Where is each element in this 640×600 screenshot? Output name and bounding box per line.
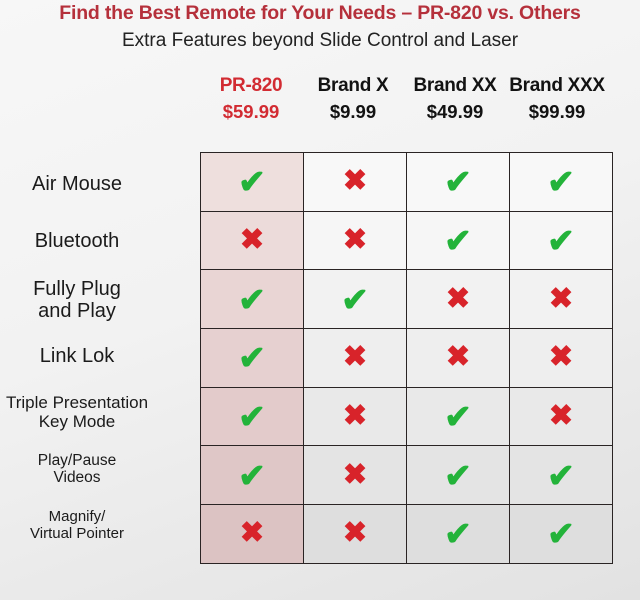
check-icon: ✔ xyxy=(547,459,575,492)
cross-icon: ✖ xyxy=(343,167,367,196)
cell-1-3: ✔ xyxy=(510,211,613,270)
check-icon: ✔ xyxy=(444,400,472,433)
cell-3-2: ✖ xyxy=(407,329,510,388)
feature-label-3: Link Lok xyxy=(0,345,192,367)
cross-icon: ✖ xyxy=(343,343,367,372)
feature-label-1: Bluetooth xyxy=(0,230,192,252)
table-row: ✔ ✖ ✔ ✖ xyxy=(201,387,613,446)
table-row: ✖ ✖ ✔ ✔ xyxy=(201,211,613,270)
column-price-3: $99.99 xyxy=(506,98,608,125)
column-header-2: Brand XX $49.99 xyxy=(404,74,506,125)
column-price-1: $9.99 xyxy=(302,98,404,125)
check-icon: ✔ xyxy=(547,517,575,550)
column-brand-0: PR-820 xyxy=(200,74,302,98)
feature-label-5-line1: Play/Pause xyxy=(0,452,192,469)
check-icon: ✔ xyxy=(238,283,266,316)
table-row: ✔ ✖ ✔ ✔ xyxy=(201,153,613,212)
column-brand-2: Brand XX xyxy=(404,74,506,98)
check-icon: ✔ xyxy=(444,165,472,198)
column-brand-3: Brand XXX xyxy=(506,74,608,98)
cross-icon: ✖ xyxy=(446,285,470,314)
cell-6-3: ✔ xyxy=(510,505,613,564)
table-row: ✔ ✔ ✖ ✖ xyxy=(201,270,613,329)
cross-icon: ✖ xyxy=(446,343,470,372)
cell-4-2: ✔ xyxy=(407,387,510,446)
cell-0-3: ✔ xyxy=(510,153,613,212)
check-icon: ✔ xyxy=(238,400,266,433)
cell-2-2: ✖ xyxy=(407,270,510,329)
cell-5-3: ✔ xyxy=(510,446,613,505)
cell-6-1: ✖ xyxy=(304,505,407,564)
feature-label-1-line1: Bluetooth xyxy=(35,230,120,252)
table-row: ✔ ✖ ✔ ✔ xyxy=(201,446,613,505)
column-header-1: Brand X $9.99 xyxy=(302,74,404,125)
table-row: ✔ ✖ ✖ ✖ xyxy=(201,329,613,388)
cell-4-1: ✖ xyxy=(304,387,407,446)
feature-label-2-line1: Fully Plug xyxy=(0,278,192,300)
cell-0-0: ✔ xyxy=(201,153,304,212)
feature-label-5: Play/Pause Videos xyxy=(0,452,192,487)
check-icon: ✔ xyxy=(341,283,369,316)
cell-2-3: ✖ xyxy=(510,270,613,329)
check-icon: ✔ xyxy=(547,165,575,198)
comparison-table-body: ✔ ✖ ✔ ✔ ✖ ✖ ✔ ✔ ✔ ✔ ✖ ✖ ✔ ✖ ✖ ✖ xyxy=(201,153,613,564)
cell-5-1: ✖ xyxy=(304,446,407,505)
cross-icon: ✖ xyxy=(343,226,367,255)
cell-4-0: ✔ xyxy=(201,387,304,446)
column-price-2: $49.99 xyxy=(404,98,506,125)
feature-label-6: Magnify/ Virtual Pointer xyxy=(0,509,192,543)
cross-icon: ✖ xyxy=(549,285,573,314)
check-icon: ✔ xyxy=(444,224,472,257)
page-title: Find the Best Remote for Your Needs – PR… xyxy=(0,0,640,26)
check-icon: ✔ xyxy=(238,459,266,492)
cell-4-3: ✖ xyxy=(510,387,613,446)
cell-3-3: ✖ xyxy=(510,329,613,388)
cell-3-1: ✖ xyxy=(304,329,407,388)
cross-icon: ✖ xyxy=(343,402,367,431)
table-row: ✖ ✖ ✔ ✔ xyxy=(201,505,613,564)
cell-1-1: ✖ xyxy=(304,211,407,270)
comparison-infographic: Find the Best Remote for Your Needs – PR… xyxy=(0,0,640,600)
feature-label-4-line1: Triple Presentation xyxy=(0,393,192,412)
feature-label-2: Fully Plug and Play xyxy=(0,278,192,323)
cell-2-1: ✔ xyxy=(304,270,407,329)
cell-0-2: ✔ xyxy=(407,153,510,212)
column-header-3: Brand XXX $99.99 xyxy=(506,74,608,125)
feature-label-6-line2: Virtual Pointer xyxy=(0,526,192,543)
feature-label-2-line2: and Play xyxy=(0,300,192,322)
feature-label-0-line1: Air Mouse xyxy=(32,173,122,195)
cross-icon: ✖ xyxy=(549,343,573,372)
check-icon: ✔ xyxy=(444,459,472,492)
cell-0-1: ✖ xyxy=(304,153,407,212)
cell-6-2: ✔ xyxy=(407,505,510,564)
check-icon: ✔ xyxy=(444,517,472,550)
feature-label-6-line1: Magnify/ xyxy=(0,509,192,526)
check-icon: ✔ xyxy=(238,341,266,374)
feature-label-0: Air Mouse xyxy=(0,173,192,195)
cross-icon: ✖ xyxy=(240,519,264,548)
cell-3-0: ✔ xyxy=(201,329,304,388)
check-icon: ✔ xyxy=(547,224,575,257)
column-header-0: PR-820 $59.99 xyxy=(200,74,302,125)
column-price-0: $59.99 xyxy=(200,98,302,125)
feature-label-4-line2: Key Mode xyxy=(0,412,192,431)
cell-2-0: ✔ xyxy=(201,270,304,329)
column-brand-1: Brand X xyxy=(302,74,404,98)
feature-label-3-line1: Link Lok xyxy=(40,345,115,367)
check-icon: ✔ xyxy=(238,165,266,198)
cell-5-0: ✔ xyxy=(201,446,304,505)
cell-5-2: ✔ xyxy=(407,446,510,505)
feature-label-4: Triple Presentation Key Mode xyxy=(0,393,192,431)
cell-6-0: ✖ xyxy=(201,505,304,564)
cross-icon: ✖ xyxy=(240,226,264,255)
cell-1-0: ✖ xyxy=(201,211,304,270)
cross-icon: ✖ xyxy=(343,519,367,548)
cross-icon: ✖ xyxy=(549,402,573,431)
cross-icon: ✖ xyxy=(343,461,367,490)
page-subtitle: Extra Features beyond Slide Control and … xyxy=(0,27,640,55)
feature-label-5-line2: Videos xyxy=(0,469,192,486)
cell-1-2: ✔ xyxy=(407,211,510,270)
comparison-table: ✔ ✖ ✔ ✔ ✖ ✖ ✔ ✔ ✔ ✔ ✖ ✖ ✔ ✖ ✖ ✖ xyxy=(200,152,613,564)
